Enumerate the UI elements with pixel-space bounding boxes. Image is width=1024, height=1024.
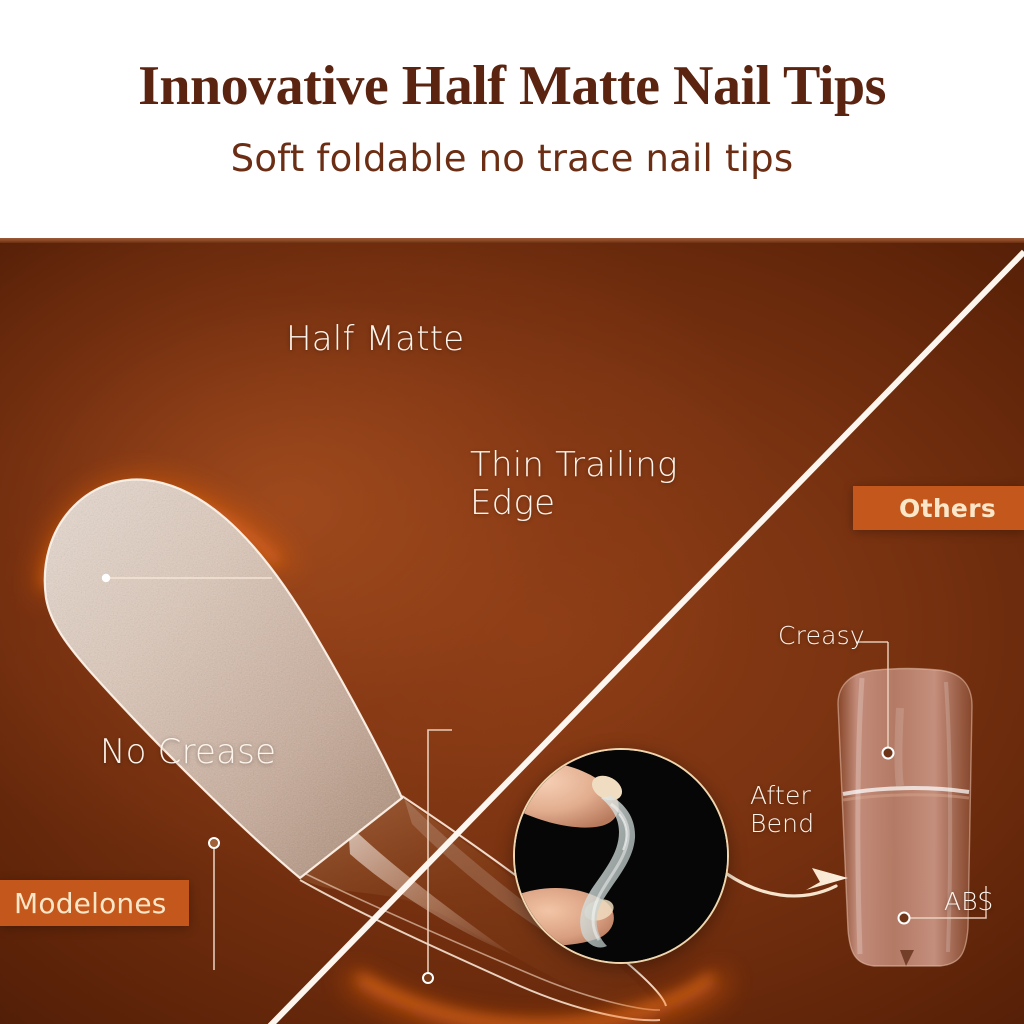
anchor-dot-thin-edge [423, 973, 433, 983]
badge-others: Others [853, 486, 1024, 530]
page-title: Innovative Half Matte Nail Tips [138, 58, 886, 114]
header-band: Innovative Half Matte Nail Tips Soft fol… [0, 0, 1024, 238]
comparison-panel: Half Matte Thin Trailing Edge No Crease … [0, 238, 1024, 1024]
after-bend-photo [513, 748, 729, 964]
anchor-dot-half-matte [102, 574, 110, 582]
page-subtitle: Soft foldable no trace nail tips [231, 140, 794, 177]
anchor-dot-abs [899, 913, 910, 924]
anchor-dot-creasy [883, 748, 894, 759]
leader-line-thin-edge [428, 730, 452, 978]
anchor-dot-no-crease [209, 838, 219, 848]
label-abs: ABS [944, 888, 994, 916]
label-no-crease: No Crease [100, 733, 276, 771]
badge-modelones: Modelones [0, 880, 189, 926]
after-bend-arrow-head [806, 868, 848, 890]
label-after-bend: After Bend [750, 782, 814, 838]
label-thin-trailing-edge: Thin Trailing Edge [470, 446, 678, 522]
label-half-matte: Half Matte [286, 320, 464, 358]
label-creasy: Creasy [778, 622, 865, 650]
product-infographic: Innovative Half Matte Nail Tips Soft fol… [0, 0, 1024, 1024]
panel-top-rim [0, 238, 1024, 243]
after-bend-arrow-shaft [727, 874, 836, 896]
